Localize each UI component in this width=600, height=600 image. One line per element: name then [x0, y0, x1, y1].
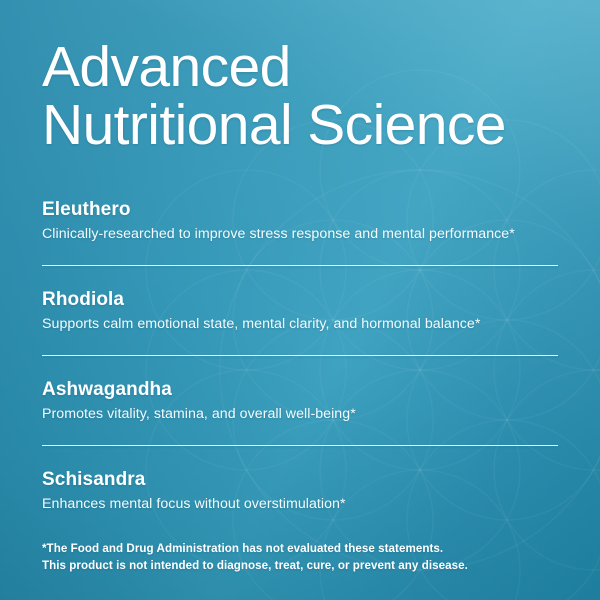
fda-disclaimer-line-1: *The Food and Drug Administration has no…: [42, 540, 562, 557]
page-title: Advanced Nutritional Science: [42, 38, 562, 154]
section-divider: [42, 355, 558, 356]
ingredient-description-schisandra: Enhances mental focus without overstimul…: [42, 494, 558, 514]
page-title-line-2: Nutritional Science: [42, 96, 562, 154]
product-benefits-poster: Advanced Nutritional Science Eleuthero C…: [0, 0, 600, 600]
ingredient-name-schisandra: Schisandra: [42, 468, 558, 492]
fda-disclaimer: *The Food and Drug Administration has no…: [42, 540, 562, 574]
list-item: Rhodiola Supports calm emotional state, …: [42, 288, 558, 356]
ingredient-description-ashwagandha: Promotes vitality, stamina, and overall …: [42, 404, 558, 424]
ingredient-name-ashwagandha: Ashwagandha: [42, 378, 558, 402]
ingredient-name-rhodiola: Rhodiola: [42, 288, 558, 312]
page-title-line-1: Advanced: [42, 38, 562, 96]
list-item: Ashwagandha Promotes vitality, stamina, …: [42, 378, 558, 446]
ingredient-name-eleuthero: Eleuthero: [42, 198, 558, 222]
ingredient-description-eleuthero: Clinically-researched to improve stress …: [42, 224, 558, 244]
section-divider: [42, 265, 558, 266]
ingredient-description-rhodiola: Supports calm emotional state, mental cl…: [42, 314, 558, 334]
list-item: Schisandra Enhances mental focus without…: [42, 468, 558, 514]
section-divider: [42, 445, 558, 446]
fda-disclaimer-line-2: This product is not intended to diagnose…: [42, 557, 562, 574]
ingredient-list: Eleuthero Clinically-researched to impro…: [42, 198, 558, 514]
list-item: Eleuthero Clinically-researched to impro…: [42, 198, 558, 266]
